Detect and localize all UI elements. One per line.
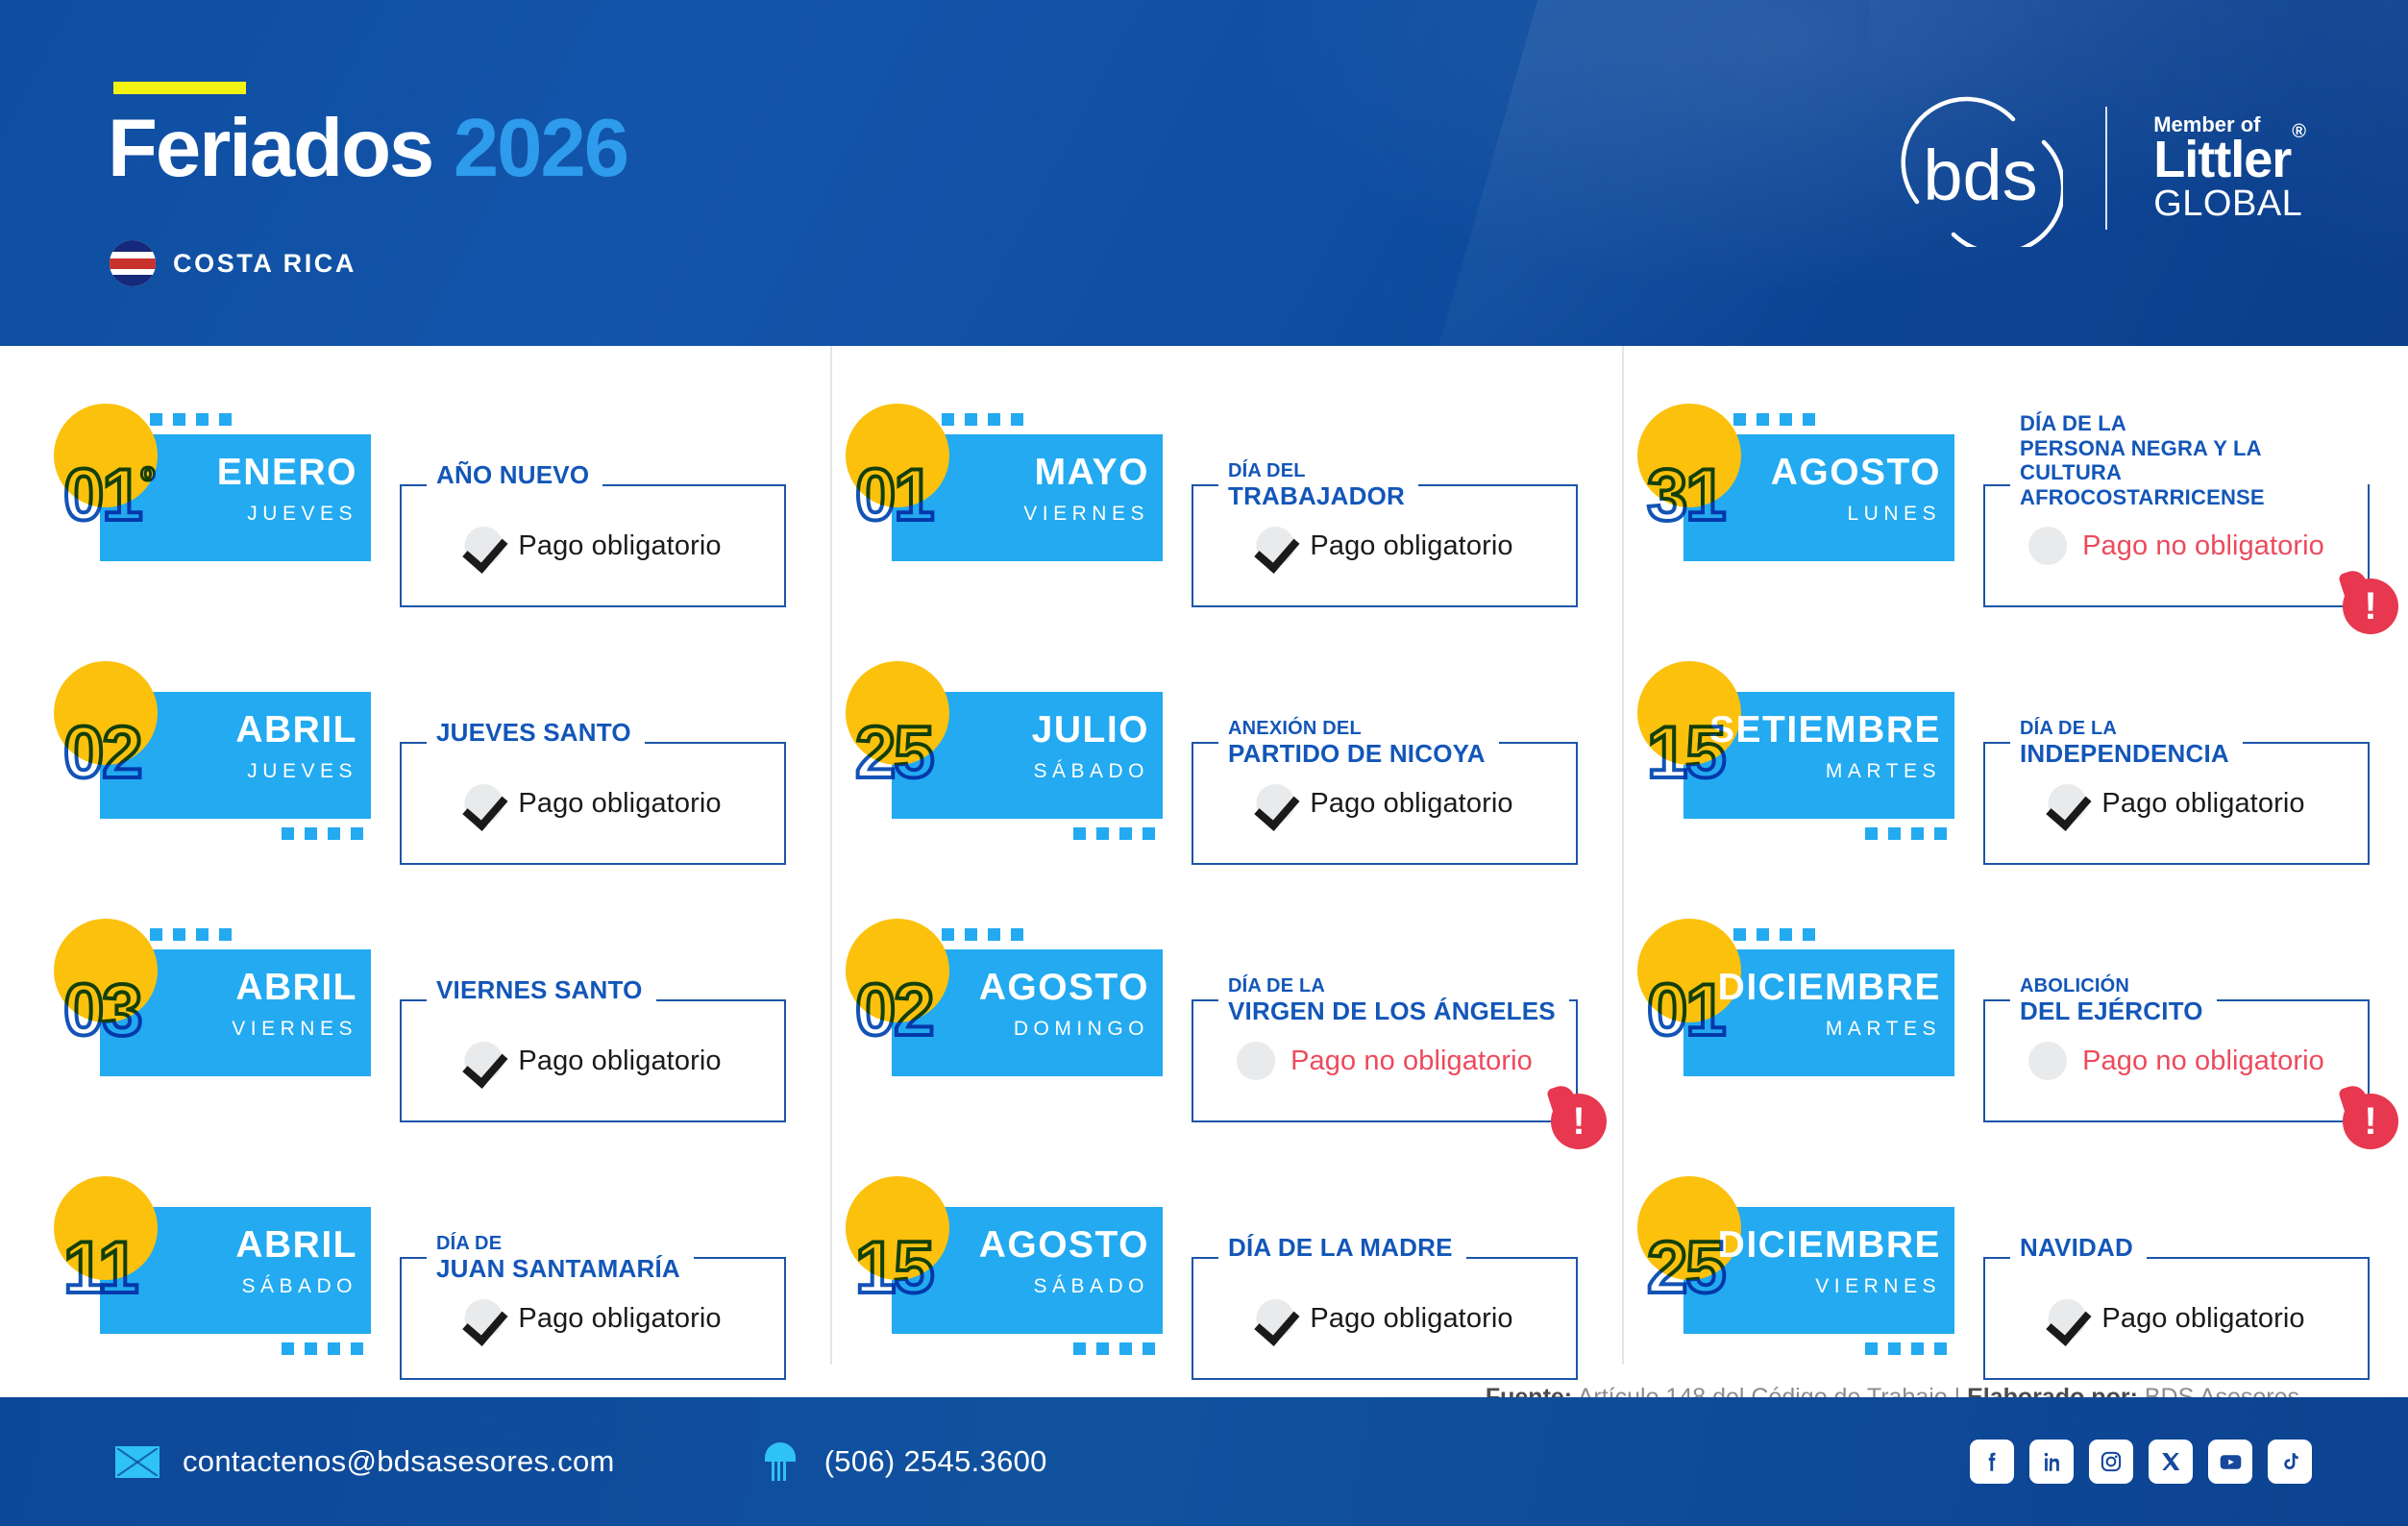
holiday-title-main: INDEPENDENCIA — [2020, 739, 2229, 768]
date-block: 01DICIEMBREMARTES — [1683, 949, 1954, 1076]
payment-status: Pago obligatorio — [2048, 784, 2304, 823]
x-twitter-icon[interactable] — [2149, 1440, 2193, 1484]
page-header: Feriados 2026 COSTA RICA bds Member of L… — [0, 0, 2408, 346]
holiday-card: 02AGOSTODOMINGODÍA DE LAVIRGEN DE LOS ÁN… — [892, 949, 1578, 1178]
footer-email-text: contactenos@bdsasesores.com — [183, 1444, 615, 1479]
payment-status: Pago obligatorio — [464, 784, 721, 823]
day-number: 01 — [1647, 974, 1725, 1047]
payment-status: Pago no obligatorio — [1237, 1042, 1533, 1080]
holiday-info-box: JUEVES SANTOPago obligatorio — [400, 742, 786, 865]
decorative-dots — [282, 1342, 363, 1355]
month-label: AGOSTO — [1771, 454, 1941, 491]
littler-global-word: GLOBAL — [2153, 185, 2304, 222]
holiday-info-box: DÍA DE LAPERSONA NEGRA Y LA CULTURA AFRO… — [1983, 484, 2370, 607]
alert-exclamation-icon — [2343, 578, 2398, 634]
holiday-info-box: VIERNES SANTOPago obligatorio — [400, 999, 786, 1122]
brand-logo: bds Member of Littler® GLOBAL — [1898, 88, 2304, 247]
holiday-card: 01MAYOVIERNESDÍA DELTRABAJADORPago oblig… — [892, 434, 1578, 663]
weekday-label: SÁBADO — [979, 1276, 1149, 1296]
payment-status: Pago obligatorio — [2048, 1299, 2304, 1338]
facebook-icon[interactable] — [1970, 1440, 2014, 1484]
empty-circle-icon — [2028, 527, 2067, 565]
instagram-icon[interactable] — [2089, 1440, 2133, 1484]
holiday-info-box: DÍA DEJUAN SANTAMARÍAPago obligatorio — [400, 1257, 786, 1380]
holiday-column-3: 31AGOSTOLUNESDÍA DE LAPERSONA NEGRA Y LA… — [1622, 346, 2408, 1365]
page-footer: contactenos@bdsasesores.com (506) 2545.3… — [0, 1397, 2408, 1526]
telephone-icon — [759, 1442, 801, 1481]
month-label: SETIEMBRE — [1709, 711, 1941, 749]
checkmark-icon — [1256, 1299, 1294, 1338]
month-label: DICIEMBRE — [1718, 969, 1941, 1006]
weekday-label: MARTES — [1718, 1019, 1941, 1039]
holiday-title-prefix: DÍA DE — [436, 1234, 680, 1255]
holiday-title-main: PARTIDO DE NICOYA — [1228, 739, 1486, 768]
payment-status: Pago no obligatorio — [2028, 527, 2324, 565]
holiday-title-main: JUAN SANTAMARÍA — [436, 1254, 680, 1283]
holiday-title: DÍA DE LAVIRGEN DE LOS ÁNGELES — [1218, 976, 1569, 1024]
footer-phone[interactable]: (506) 2545.3600 — [759, 1442, 1047, 1481]
payment-status: Pago obligatorio — [464, 527, 721, 565]
holiday-info-box: DÍA DE LAINDEPENDENCIAPago obligatorio — [1983, 742, 2370, 865]
payment-status-text: Pago obligatorio — [1310, 1303, 1512, 1335]
decorative-dots — [1073, 1342, 1155, 1355]
holiday-title-main: AÑO NUEVO — [436, 460, 589, 489]
alert-exclamation-icon — [2343, 1094, 2398, 1149]
decorative-dots — [1733, 413, 1815, 426]
payment-status-text: Pago obligatorio — [1310, 788, 1512, 820]
month-label: AGOSTO — [979, 969, 1149, 1006]
page-title: Feriados 2026 — [108, 108, 627, 189]
holiday-column-1: 01ºENEROJUEVESAÑO NUEVOPago obligatorio0… — [0, 346, 830, 1365]
empty-circle-icon — [2028, 1042, 2067, 1080]
payment-status-text: Pago obligatorio — [518, 788, 721, 820]
decorative-dots — [942, 928, 1023, 941]
holiday-title-prefix: DÍA DE LA — [2020, 411, 2354, 436]
checkmark-icon — [464, 527, 503, 565]
month-label: AGOSTO — [979, 1226, 1149, 1264]
holiday-title: ANEXIÓN DELPARTIDO DE NICOYA — [1218, 719, 1499, 767]
holiday-column-2: 01MAYOVIERNESDÍA DELTRABAJADORPago oblig… — [830, 346, 1622, 1365]
holiday-card: 15SETIEMBREMARTESDÍA DE LAINDEPENDENCIAP… — [1683, 692, 2370, 921]
checkmark-icon — [2048, 784, 2086, 823]
holiday-grid: 01ºENEROJUEVESAÑO NUEVOPago obligatorio0… — [0, 346, 2408, 1365]
checkmark-icon — [1256, 784, 1294, 823]
holiday-title-main: VIRGEN DE LOS ÁNGELES — [1228, 997, 1556, 1025]
payment-status: Pago obligatorio — [1256, 784, 1512, 823]
payment-status: Pago obligatorio — [464, 1299, 721, 1338]
date-block: 03ABRILVIERNES — [100, 949, 371, 1076]
title-accent-rule — [113, 82, 246, 94]
littler-wordmark: Littler® — [2153, 135, 2304, 185]
decorative-dots — [1733, 928, 1815, 941]
page-title-year: 2026 — [454, 103, 627, 194]
holiday-title-prefix: ABOLICIÓN — [2020, 976, 2203, 997]
weekday-label: VIERNES — [232, 1019, 357, 1039]
date-block: 25JULIOSÁBADO — [892, 692, 1163, 819]
day-number: 25 — [855, 717, 933, 790]
bds-logo-icon: bds — [1898, 88, 2063, 247]
date-block: 15AGOSTOSÁBADO — [892, 1207, 1163, 1334]
footer-phone-text: (506) 2545.3600 — [824, 1444, 1047, 1479]
holiday-info-box: ANEXIÓN DELPARTIDO DE NICOYAPago obligat… — [1192, 742, 1578, 865]
weekday-label: JUEVES — [217, 504, 357, 524]
holiday-card: 03ABRILVIERNESVIERNES SANTOPago obligato… — [100, 949, 786, 1178]
country-row: COSTA RICA — [110, 240, 356, 286]
holiday-info-box: NAVIDADPago obligatorio — [1983, 1257, 2370, 1380]
decorative-dots — [1865, 1342, 1947, 1355]
date-block: 02ABRILJUEVES — [100, 692, 371, 819]
day-number: 02 — [855, 974, 933, 1047]
date-block: 01MAYOVIERNES — [892, 434, 1163, 561]
holiday-title: DÍA DE LAPERSONA NEGRA Y LA CULTURA AFRO… — [2010, 411, 2368, 509]
payment-status-text: Pago no obligatorio — [1290, 1046, 1533, 1077]
alert-exclamation-icon — [1551, 1094, 1607, 1149]
decorative-dots — [1073, 827, 1155, 840]
holiday-title-main: VIERNES SANTO — [436, 975, 643, 1004]
holiday-info-box: DÍA DE LA MADREPago obligatorio — [1192, 1257, 1578, 1380]
holiday-card: 01ºENEROJUEVESAÑO NUEVOPago obligatorio — [100, 434, 786, 663]
holiday-title: DÍA DE LAINDEPENDENCIA — [2010, 719, 2243, 767]
day-number: 02 — [63, 717, 141, 790]
holiday-title: NAVIDAD — [2010, 1234, 2147, 1263]
date-block: 25DICIEMBREVIERNES — [1683, 1207, 1954, 1334]
country-label: COSTA RICA — [173, 249, 356, 279]
day-number: 11 — [63, 1232, 136, 1305]
holiday-card: 02ABRILJUEVESJUEVES SANTOPago obligatori… — [100, 692, 786, 921]
date-block: 02AGOSTODOMINGO — [892, 949, 1163, 1076]
holiday-title: DÍA DE LA MADRE — [1218, 1234, 1466, 1263]
date-block: 31AGOSTOLUNES — [1683, 434, 1954, 561]
decorative-dots — [282, 827, 363, 840]
day-number: 15 — [1647, 717, 1725, 790]
decorative-dots — [150, 413, 232, 426]
tiktok-icon[interactable] — [2268, 1440, 2312, 1484]
holiday-info-box: DÍA DE LAVIRGEN DE LOS ÁNGELESPago no ob… — [1192, 999, 1578, 1122]
holiday-title-prefix: DÍA DE LA — [1228, 976, 1556, 997]
payment-status-text: Pago obligatorio — [2101, 1303, 2304, 1335]
holiday-info-box: ABOLICIÓNDEL EJÉRCITOPago no obligatorio — [1983, 999, 2370, 1122]
checkmark-icon — [464, 1042, 503, 1080]
payment-status-text: Pago obligatorio — [518, 1303, 721, 1335]
decorative-dots — [1865, 827, 1947, 840]
payment-status-text: Pago no obligatorio — [2082, 1046, 2324, 1077]
month-label: JULIO — [1032, 711, 1149, 749]
holiday-title-prefix: DÍA DEL — [1228, 461, 1405, 482]
payment-status: Pago no obligatorio — [2028, 1042, 2324, 1080]
date-block: 15SETIEMBREMARTES — [1683, 692, 1954, 819]
weekday-label: SÁBADO — [1032, 761, 1149, 781]
holiday-card: 31AGOSTOLUNESDÍA DE LAPERSONA NEGRA Y LA… — [1683, 434, 2370, 663]
infographic-page: Feriados 2026 COSTA RICA bds Member of L… — [0, 0, 2408, 1526]
weekday-label: JUEVES — [235, 761, 357, 781]
empty-circle-icon — [1237, 1042, 1275, 1080]
holiday-card: 01DICIEMBREMARTESABOLICIÓNDEL EJÉRCITOPa… — [1683, 949, 2370, 1178]
holiday-title: AÑO NUEVO — [427, 461, 602, 490]
month-label: ABRIL — [235, 711, 357, 749]
date-block: 01ºENEROJUEVES — [100, 434, 371, 561]
weekday-label: SÁBADO — [235, 1276, 357, 1296]
holiday-title-main: TRABAJADOR — [1228, 481, 1405, 510]
weekday-label: VIERNES — [1718, 1276, 1941, 1296]
payment-status: Pago obligatorio — [1256, 527, 1512, 565]
holiday-title: VIERNES SANTO — [427, 976, 656, 1005]
month-label: MAYO — [1023, 454, 1149, 491]
month-label: ENERO — [217, 454, 357, 491]
payment-status-text: Pago obligatorio — [518, 530, 721, 562]
month-label: DICIEMBRE — [1718, 1226, 1941, 1264]
holiday-title-prefix: ANEXIÓN DEL — [1228, 719, 1486, 740]
envelope-icon — [115, 1446, 160, 1478]
date-block: 11ABRILSÁBADO — [100, 1207, 371, 1334]
day-number: 25 — [1647, 1232, 1725, 1305]
holiday-info-box: AÑO NUEVOPago obligatorio — [400, 484, 786, 607]
payment-status-text: Pago obligatorio — [518, 1046, 721, 1077]
holiday-title-main: JUEVES SANTO — [436, 718, 631, 747]
day-number: 31 — [1647, 459, 1725, 532]
day-number: 01 — [855, 459, 933, 532]
payment-status: Pago obligatorio — [1256, 1299, 1512, 1338]
weekday-label: VIERNES — [1023, 504, 1149, 524]
littler-global-lockup: Member of Littler® GLOBAL — [2105, 107, 2304, 230]
checkmark-icon — [464, 1299, 503, 1338]
holiday-card: 25JULIOSÁBADOANEXIÓN DELPARTIDO DE NICOY… — [892, 692, 1578, 921]
day-number: 03 — [63, 974, 141, 1047]
decorative-dots — [150, 928, 232, 941]
checkmark-icon — [1256, 527, 1294, 565]
holiday-title: DÍA DELTRABAJADOR — [1218, 461, 1418, 509]
holiday-title: DÍA DEJUAN SANTAMARÍA — [427, 1234, 694, 1282]
holiday-title-main: DEL EJÉRCITO — [2020, 997, 2203, 1025]
checkmark-icon — [2048, 1299, 2086, 1338]
svg-text:bds: bds — [1924, 135, 2038, 215]
payment-status: Pago obligatorio — [464, 1042, 721, 1080]
holiday-title: JUEVES SANTO — [427, 719, 645, 748]
holiday-info-box: DÍA DELTRABAJADORPago obligatorio — [1192, 484, 1578, 607]
holiday-title-main: NAVIDAD — [2020, 1233, 2133, 1262]
day-number: 01º — [63, 459, 153, 532]
linkedin-icon[interactable] — [2029, 1440, 2074, 1484]
costa-rica-flag-icon — [110, 240, 156, 286]
weekday-label: LUNES — [1771, 504, 1941, 524]
payment-status-text: Pago obligatorio — [2101, 788, 2304, 820]
payment-status-text: Pago no obligatorio — [2082, 530, 2324, 562]
day-number: 15 — [855, 1232, 933, 1305]
payment-status-text: Pago obligatorio — [1310, 530, 1512, 562]
holiday-title-main: DÍA DE LA MADRE — [1228, 1233, 1453, 1262]
holiday-title-main: PERSONA NEGRA Y LA CULTURA AFROCOSTARRIC… — [2020, 436, 2265, 509]
holiday-title-prefix: DÍA DE LA — [2020, 719, 2229, 740]
holiday-title: ABOLICIÓNDEL EJÉRCITO — [2010, 976, 2217, 1024]
month-label: ABRIL — [235, 1226, 357, 1264]
page-title-main: Feriados — [108, 103, 432, 194]
footer-email[interactable]: contactenos@bdsasesores.com — [115, 1444, 615, 1479]
social-links — [1970, 1440, 2312, 1484]
checkmark-icon — [464, 784, 503, 823]
decorative-dots — [942, 413, 1023, 426]
weekday-label: DOMINGO — [979, 1019, 1149, 1039]
weekday-label: MARTES — [1709, 761, 1941, 781]
month-label: ABRIL — [232, 969, 357, 1006]
youtube-icon[interactable] — [2208, 1440, 2252, 1484]
